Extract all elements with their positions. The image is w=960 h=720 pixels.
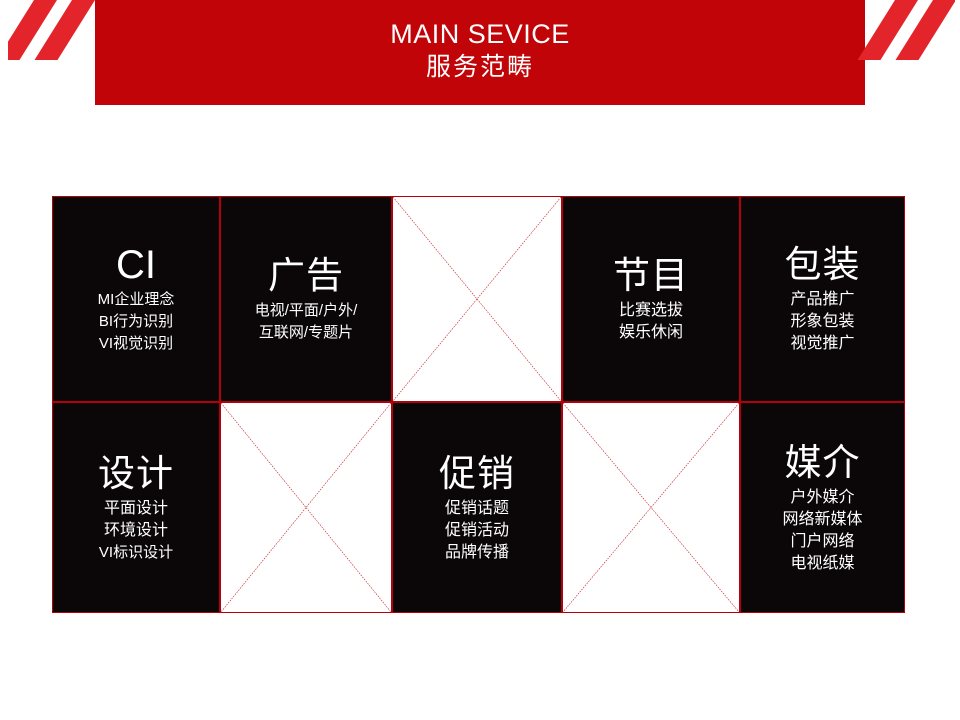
service-detail-line: 户外媒介	[790, 487, 854, 509]
service-title: 媒介	[785, 441, 861, 485]
service-detail-list: 产品推广形象包装视觉推广	[790, 289, 854, 355]
service-detail-line: 平面设计	[104, 498, 168, 520]
service-detail-line: 促销活动	[445, 520, 509, 542]
service-detail-line: MI企业理念	[98, 289, 175, 311]
service-cell-packaging[interactable]: 包装产品推广形象包装视觉推广	[740, 196, 905, 402]
service-detail-list: 电视/平面/户外/互联网/专题片	[255, 300, 358, 344]
service-detail-line: 比赛选拔	[619, 300, 683, 322]
service-title: 包装	[785, 243, 861, 287]
placeholder-x-icon	[563, 403, 739, 612]
service-detail-list: 平面设计环境设计VI标识设计	[99, 498, 173, 564]
service-detail-line: 电视纸媒	[790, 553, 854, 575]
service-detail-line: 门户网络	[790, 531, 854, 553]
service-title: 节目	[613, 254, 689, 298]
service-detail-line: BI行为识别	[99, 311, 173, 333]
service-cell-ci[interactable]: CIMI企业理念BI行为识别VI视觉识别	[52, 196, 220, 402]
service-detail-list: 比赛选拔娱乐休闲	[619, 300, 683, 344]
service-cell-placeholder-bottom-left[interactable]	[220, 402, 392, 613]
header-banner: MAIN SEVICE 服务范畴	[95, 0, 865, 105]
page-title-chinese: 服务范畴	[426, 50, 534, 84]
page-title-english: MAIN SEVICE	[390, 18, 570, 50]
service-detail-line: 促销话题	[445, 498, 509, 520]
service-detail-line: 形象包装	[790, 311, 854, 333]
service-title: 设计	[98, 452, 174, 496]
service-detail-line: 环境设计	[104, 520, 168, 542]
service-cell-design[interactable]: 设计平面设计环境设计VI标识设计	[52, 402, 220, 613]
service-cell-program[interactable]: 节目比赛选拔娱乐休闲	[562, 196, 740, 402]
service-detail-list: 户外媒介网络新媒体门户网络电视纸媒	[782, 487, 862, 575]
service-detail-line: 娱乐休闲	[619, 322, 683, 344]
service-cell-placeholder-top[interactable]	[392, 196, 562, 402]
service-detail-line: 品牌传播	[445, 542, 509, 564]
service-cell-placeholder-bottom-right[interactable]	[562, 402, 740, 613]
service-detail-line: 网络新媒体	[782, 509, 862, 531]
service-detail-list: MI企业理念BI行为识别VI视觉识别	[98, 289, 175, 355]
service-title: 促销	[439, 452, 515, 496]
header-area: MAIN SEVICE 服务范畴	[0, 0, 960, 110]
service-cell-promotion[interactable]: 促销促销话题促销活动品牌传播	[392, 402, 562, 613]
service-title: 广告	[268, 254, 344, 298]
service-detail-line: VI视觉识别	[99, 333, 173, 355]
service-detail-line: 电视/平面/户外/	[255, 300, 358, 322]
service-detail-line: 产品推广	[790, 289, 854, 311]
service-detail-line: 互联网/专题片	[259, 322, 353, 344]
service-grid: CIMI企业理念BI行为识别VI视觉识别广告电视/平面/户外/互联网/专题片节目…	[52, 196, 905, 613]
service-detail-line: 视觉推广	[790, 333, 854, 355]
placeholder-x-icon	[221, 403, 391, 612]
service-detail-list: 促销话题促销活动品牌传播	[445, 498, 509, 564]
service-detail-line: VI标识设计	[99, 542, 173, 564]
service-title: CI	[116, 243, 156, 287]
decorative-stripes-right	[845, 0, 955, 60]
service-cell-media[interactable]: 媒介户外媒介网络新媒体门户网络电视纸媒	[740, 402, 905, 613]
placeholder-x-icon	[393, 197, 561, 401]
service-cell-advertising[interactable]: 广告电视/平面/户外/互联网/专题片	[220, 196, 392, 402]
